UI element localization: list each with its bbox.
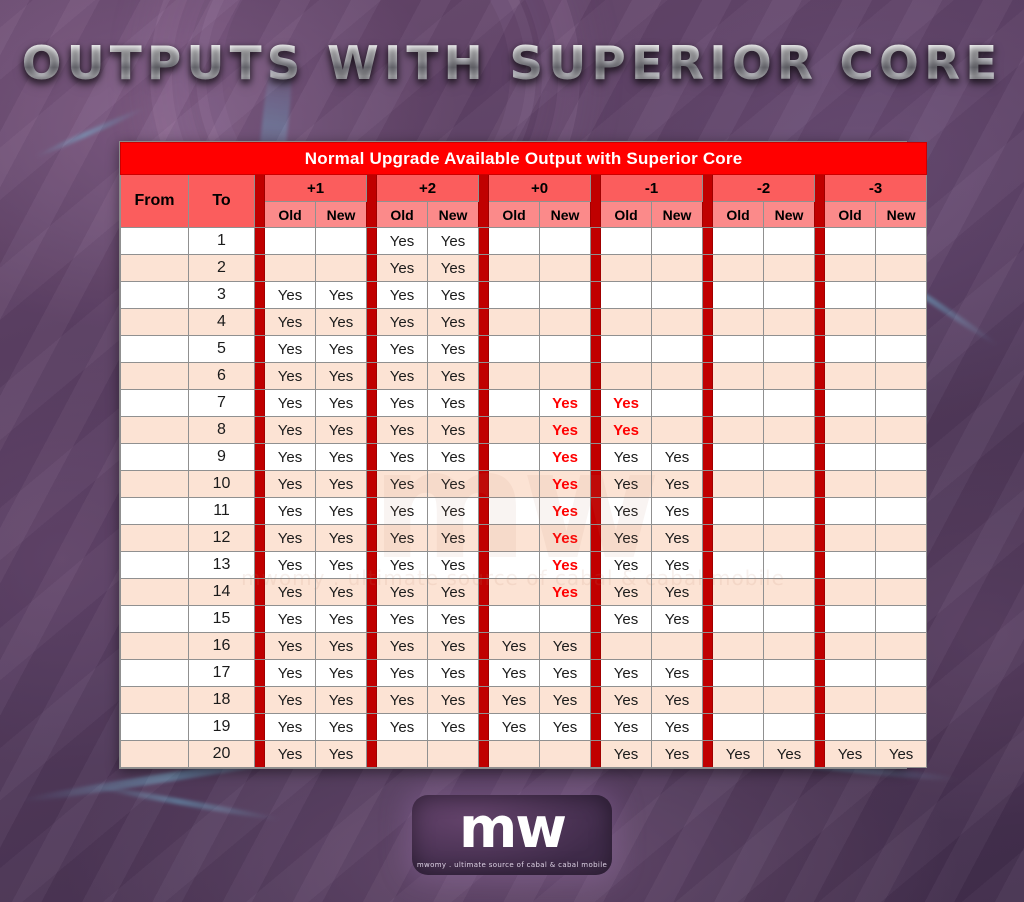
- group-separator: [703, 175, 713, 228]
- group-separator: [479, 363, 489, 390]
- cell-plus1-old: Yes: [265, 363, 316, 390]
- cell-minus3-new: [876, 363, 927, 390]
- cell-minus3-new: [876, 714, 927, 741]
- cell-plus2-new: [428, 741, 479, 768]
- cell-to: 17: [189, 660, 255, 687]
- group-separator: [479, 714, 489, 741]
- group-separator: [703, 660, 713, 687]
- table-row: 17YesYesYesYesYesYesYesYes: [121, 660, 927, 687]
- group-separator: [815, 660, 825, 687]
- cell-plus2-old: Yes: [377, 525, 428, 552]
- cell-from: [121, 633, 189, 660]
- group-separator: [255, 282, 265, 309]
- cell-plus2-old: Yes: [377, 282, 428, 309]
- cell-minus3-new: [876, 309, 927, 336]
- brand-logo-mark: mw: [459, 804, 565, 854]
- cell-minus1-new: [652, 390, 703, 417]
- cell-minus3-new: [876, 390, 927, 417]
- cell-from: [121, 471, 189, 498]
- cell-minus3-old: [825, 498, 876, 525]
- group-separator: [367, 498, 377, 525]
- group-separator: [367, 390, 377, 417]
- cell-plus2-old: Yes: [377, 363, 428, 390]
- table-caption-row: Normal Upgrade Available Output with Sup…: [121, 143, 927, 175]
- cell-plus0-old: [489, 552, 540, 579]
- cell-to: 9: [189, 444, 255, 471]
- cell-minus2-old: [713, 228, 764, 255]
- group-separator: [255, 390, 265, 417]
- cell-from: [121, 498, 189, 525]
- table-row: 12YesYesYesYesYesYesYes: [121, 525, 927, 552]
- group-separator: [815, 444, 825, 471]
- cell-plus2-old: Yes: [377, 390, 428, 417]
- cell-plus2-new: Yes: [428, 606, 479, 633]
- cell-plus2-old: Yes: [377, 255, 428, 282]
- group-separator: [591, 633, 601, 660]
- group-separator: [479, 525, 489, 552]
- group-separator: [815, 255, 825, 282]
- cell-to: 10: [189, 471, 255, 498]
- cell-plus1-old: Yes: [265, 687, 316, 714]
- cell-to: 18: [189, 687, 255, 714]
- cell-plus1-new: Yes: [316, 498, 367, 525]
- group-separator: [255, 660, 265, 687]
- group-separator: [367, 282, 377, 309]
- group-separator: [703, 498, 713, 525]
- group-separator: [479, 282, 489, 309]
- cell-minus1-new: [652, 363, 703, 390]
- cell-plus1-old: Yes: [265, 714, 316, 741]
- cell-plus0-new: Yes: [540, 525, 591, 552]
- cell-plus0-old: [489, 741, 540, 768]
- group-header-minus1: -1: [601, 175, 703, 202]
- cell-to: 5: [189, 336, 255, 363]
- subheader-new: New: [764, 202, 815, 228]
- cell-minus2-old: Yes: [713, 741, 764, 768]
- subheader-new: New: [876, 202, 927, 228]
- group-separator: [591, 282, 601, 309]
- cell-plus2-old: Yes: [377, 660, 428, 687]
- table-row: 6YesYesYesYes: [121, 363, 927, 390]
- header-to: To: [189, 175, 255, 228]
- cell-minus2-old: [713, 255, 764, 282]
- cell-plus0-new: Yes: [540, 417, 591, 444]
- page-title: OUTPUTS WITH SUPERIOR CORE: [0, 36, 1024, 90]
- cell-plus2-new: Yes: [428, 363, 479, 390]
- cell-to: 16: [189, 633, 255, 660]
- cell-minus1-old: Yes: [601, 606, 652, 633]
- cell-plus2-old: Yes: [377, 579, 428, 606]
- upgrade-output-table: Normal Upgrade Available Output with Sup…: [119, 141, 907, 769]
- group-separator: [367, 606, 377, 633]
- cell-to: 7: [189, 390, 255, 417]
- cell-minus1-new: Yes: [652, 552, 703, 579]
- cell-plus0-old: [489, 363, 540, 390]
- table-row: 3YesYesYesYes: [121, 282, 927, 309]
- cell-minus1-old: [601, 282, 652, 309]
- group-separator: [479, 390, 489, 417]
- cell-minus3-new: [876, 417, 927, 444]
- table-row: 9YesYesYesYesYesYesYes: [121, 444, 927, 471]
- group-separator: [703, 444, 713, 471]
- group-separator: [591, 498, 601, 525]
- cell-minus3-old: [825, 228, 876, 255]
- group-separator: [479, 633, 489, 660]
- cell-from: [121, 363, 189, 390]
- group-separator: [703, 228, 713, 255]
- group-separator: [367, 660, 377, 687]
- header-from: From: [121, 175, 189, 228]
- group-separator: [703, 282, 713, 309]
- group-separator: [591, 444, 601, 471]
- cell-plus0-old: [489, 417, 540, 444]
- group-separator: [255, 606, 265, 633]
- subheader-old: Old: [377, 202, 428, 228]
- cell-plus0-new: [540, 741, 591, 768]
- subheader-old: Old: [601, 202, 652, 228]
- group-separator: [703, 552, 713, 579]
- group-separator: [479, 255, 489, 282]
- cell-from: [121, 525, 189, 552]
- group-separator: [703, 714, 713, 741]
- cell-plus0-old: Yes: [489, 714, 540, 741]
- cell-plus1-old: [265, 255, 316, 282]
- group-separator: [255, 498, 265, 525]
- group-separator: [367, 175, 377, 228]
- cell-minus3-old: [825, 255, 876, 282]
- cell-minus2-new: [764, 417, 815, 444]
- cell-minus1-old: Yes: [601, 579, 652, 606]
- cell-plus0-new: Yes: [540, 390, 591, 417]
- cell-plus1-old: Yes: [265, 282, 316, 309]
- cell-minus3-new: [876, 660, 927, 687]
- cell-plus1-new: Yes: [316, 714, 367, 741]
- cell-plus0-new: Yes: [540, 687, 591, 714]
- cell-plus1-new: Yes: [316, 471, 367, 498]
- cell-from: [121, 579, 189, 606]
- cell-plus2-new: Yes: [428, 687, 479, 714]
- group-separator: [255, 471, 265, 498]
- group-separator: [815, 741, 825, 768]
- group-separator: [591, 175, 601, 228]
- cell-from: [121, 309, 189, 336]
- group-separator: [255, 714, 265, 741]
- cell-minus2-new: [764, 606, 815, 633]
- cell-minus1-new: Yes: [652, 660, 703, 687]
- cell-minus3-old: [825, 660, 876, 687]
- cell-from: [121, 714, 189, 741]
- cell-plus2-new: Yes: [428, 336, 479, 363]
- group-separator: [255, 309, 265, 336]
- cell-minus1-new: [652, 309, 703, 336]
- cell-plus2-new: Yes: [428, 633, 479, 660]
- cell-minus2-old: [713, 498, 764, 525]
- group-separator: [479, 444, 489, 471]
- cell-minus1-new: Yes: [652, 444, 703, 471]
- cell-minus3-old: [825, 552, 876, 579]
- cell-plus1-old: Yes: [265, 417, 316, 444]
- group-separator: [255, 579, 265, 606]
- group-separator: [591, 741, 601, 768]
- cell-plus1-new: Yes: [316, 579, 367, 606]
- group-separator: [479, 228, 489, 255]
- group-separator: [703, 579, 713, 606]
- cell-minus1-old: [601, 336, 652, 363]
- group-separator: [255, 228, 265, 255]
- group-separator: [255, 552, 265, 579]
- cell-plus0-new: Yes: [540, 660, 591, 687]
- group-separator: [815, 498, 825, 525]
- group-separator: [591, 687, 601, 714]
- cell-to: 2: [189, 255, 255, 282]
- group-separator: [815, 552, 825, 579]
- cell-minus1-old: [601, 255, 652, 282]
- cell-minus3-new: Yes: [876, 741, 927, 768]
- cell-plus0-new: [540, 309, 591, 336]
- cell-plus0-old: [489, 282, 540, 309]
- cell-from: [121, 417, 189, 444]
- cell-plus2-new: Yes: [428, 255, 479, 282]
- cell-minus3-old: [825, 471, 876, 498]
- group-separator: [703, 525, 713, 552]
- cell-plus2-old: Yes: [377, 444, 428, 471]
- subheader-old: Old: [265, 202, 316, 228]
- cell-minus2-old: [713, 471, 764, 498]
- cell-minus1-new: [652, 228, 703, 255]
- cell-minus1-new: Yes: [652, 471, 703, 498]
- cell-from: [121, 606, 189, 633]
- cell-plus0-new: [540, 606, 591, 633]
- group-separator: [703, 363, 713, 390]
- group-separator: [367, 444, 377, 471]
- cell-to: 19: [189, 714, 255, 741]
- cell-minus3-new: [876, 579, 927, 606]
- group-separator: [591, 417, 601, 444]
- group-separator: [479, 336, 489, 363]
- group-separator: [591, 660, 601, 687]
- group-separator: [703, 633, 713, 660]
- group-header-plus0: +0: [489, 175, 591, 202]
- cell-minus2-new: [764, 282, 815, 309]
- cell-minus2-old: [713, 390, 764, 417]
- cell-minus2-new: [764, 336, 815, 363]
- cell-minus1-old: Yes: [601, 390, 652, 417]
- cell-minus1-old: Yes: [601, 444, 652, 471]
- cell-minus2-old: [713, 417, 764, 444]
- cell-minus1-old: Yes: [601, 471, 652, 498]
- group-separator: [703, 687, 713, 714]
- table-row: 16YesYesYesYesYesYes: [121, 633, 927, 660]
- cell-plus1-old: Yes: [265, 660, 316, 687]
- cell-plus2-new: Yes: [428, 525, 479, 552]
- cell-plus0-new: Yes: [540, 498, 591, 525]
- group-separator: [703, 390, 713, 417]
- cell-minus3-old: [825, 336, 876, 363]
- cell-minus3-old: [825, 417, 876, 444]
- cell-plus0-old: [489, 444, 540, 471]
- cell-plus2-new: Yes: [428, 309, 479, 336]
- group-header-plus2: +2: [377, 175, 479, 202]
- cell-minus2-old: [713, 633, 764, 660]
- group-separator: [367, 363, 377, 390]
- table-row: 19YesYesYesYesYesYesYesYes: [121, 714, 927, 741]
- group-separator: [815, 579, 825, 606]
- subheader-new: New: [540, 202, 591, 228]
- cell-plus1-new: Yes: [316, 660, 367, 687]
- cell-minus2-new: [764, 390, 815, 417]
- group-separator: [815, 363, 825, 390]
- cell-to: 14: [189, 579, 255, 606]
- cell-plus2-old: Yes: [377, 309, 428, 336]
- cell-plus2-new: Yes: [428, 417, 479, 444]
- group-separator: [255, 444, 265, 471]
- cell-minus2-new: Yes: [764, 741, 815, 768]
- cell-plus0-old: [489, 498, 540, 525]
- group-separator: [367, 714, 377, 741]
- group-separator: [815, 525, 825, 552]
- cell-minus2-new: [764, 714, 815, 741]
- cell-minus3-new: [876, 228, 927, 255]
- cell-minus3-new: [876, 336, 927, 363]
- group-separator: [479, 471, 489, 498]
- group-separator: [367, 471, 377, 498]
- cell-from: [121, 390, 189, 417]
- cell-plus0-old: [489, 336, 540, 363]
- table-row: 14YesYesYesYesYesYesYes: [121, 579, 927, 606]
- group-separator: [367, 417, 377, 444]
- cell-plus0-old: [489, 471, 540, 498]
- table-row: 5YesYesYesYes: [121, 336, 927, 363]
- cell-to: 4: [189, 309, 255, 336]
- group-separator: [815, 714, 825, 741]
- cell-minus3-new: [876, 471, 927, 498]
- cell-plus2-new: Yes: [428, 228, 479, 255]
- cell-plus1-old: Yes: [265, 741, 316, 768]
- table-row: 7YesYesYesYesYesYes: [121, 390, 927, 417]
- group-separator: [815, 471, 825, 498]
- subheader-new: New: [428, 202, 479, 228]
- group-separator: [479, 687, 489, 714]
- cell-minus1-old: Yes: [601, 417, 652, 444]
- cell-minus3-new: [876, 282, 927, 309]
- group-separator: [255, 687, 265, 714]
- cell-plus1-new: Yes: [316, 363, 367, 390]
- cell-minus1-new: [652, 633, 703, 660]
- table-row: 2YesYes: [121, 255, 927, 282]
- group-separator: [367, 336, 377, 363]
- group-separator: [703, 336, 713, 363]
- cell-minus2-old: [713, 525, 764, 552]
- group-separator: [703, 606, 713, 633]
- cell-minus1-new: [652, 417, 703, 444]
- cell-minus1-old: Yes: [601, 714, 652, 741]
- cell-minus3-new: [876, 606, 927, 633]
- group-separator: [255, 175, 265, 228]
- cell-minus2-old: [713, 579, 764, 606]
- cell-plus1-new: Yes: [316, 741, 367, 768]
- cell-minus1-old: Yes: [601, 741, 652, 768]
- group-separator: [703, 417, 713, 444]
- cell-plus2-old: Yes: [377, 552, 428, 579]
- cell-minus2-old: [713, 309, 764, 336]
- cell-plus0-old: [489, 309, 540, 336]
- group-separator: [815, 606, 825, 633]
- cell-minus2-old: [713, 336, 764, 363]
- subheader-new: New: [316, 202, 367, 228]
- cell-plus0-new: Yes: [540, 471, 591, 498]
- group-separator: [367, 741, 377, 768]
- cell-minus1-old: [601, 309, 652, 336]
- cell-plus1-old: Yes: [265, 552, 316, 579]
- cell-minus2-new: [764, 525, 815, 552]
- group-separator: [367, 579, 377, 606]
- group-separator: [815, 282, 825, 309]
- upgrade-grid: Normal Upgrade Available Output with Sup…: [120, 142, 927, 768]
- group-separator: [703, 309, 713, 336]
- group-separator: [479, 741, 489, 768]
- cell-plus0-old: [489, 390, 540, 417]
- cell-plus0-new: Yes: [540, 633, 591, 660]
- cell-minus2-old: [713, 363, 764, 390]
- group-separator: [367, 687, 377, 714]
- cell-minus3-old: [825, 525, 876, 552]
- cell-minus2-new: [764, 471, 815, 498]
- cell-minus2-old: [713, 714, 764, 741]
- table-row: 11YesYesYesYesYesYesYes: [121, 498, 927, 525]
- cell-minus2-old: [713, 282, 764, 309]
- cell-minus1-new: Yes: [652, 525, 703, 552]
- cell-plus2-new: Yes: [428, 282, 479, 309]
- group-header-plus1: +1: [265, 175, 367, 202]
- cell-minus3-old: [825, 309, 876, 336]
- cell-minus3-new: [876, 552, 927, 579]
- cell-minus2-new: [764, 552, 815, 579]
- cell-minus1-old: Yes: [601, 552, 652, 579]
- cell-minus1-old: [601, 363, 652, 390]
- cell-plus2-new: Yes: [428, 471, 479, 498]
- group-separator: [255, 336, 265, 363]
- cell-plus2-new: Yes: [428, 552, 479, 579]
- cell-plus1-new: Yes: [316, 309, 367, 336]
- group-separator: [815, 175, 825, 228]
- group-separator: [815, 390, 825, 417]
- cell-plus0-new: Yes: [540, 579, 591, 606]
- cell-to: 11: [189, 498, 255, 525]
- group-separator: [479, 498, 489, 525]
- cell-minus3-old: [825, 606, 876, 633]
- cell-from: [121, 336, 189, 363]
- cell-plus1-new: Yes: [316, 633, 367, 660]
- cell-from: [121, 255, 189, 282]
- cell-plus0-old: [489, 525, 540, 552]
- group-separator: [479, 606, 489, 633]
- table-row: 1YesYes: [121, 228, 927, 255]
- group-separator: [479, 309, 489, 336]
- cell-minus3-new: [876, 687, 927, 714]
- cell-plus1-old: Yes: [265, 579, 316, 606]
- group-separator: [815, 633, 825, 660]
- cell-plus2-new: Yes: [428, 444, 479, 471]
- group-header-minus2: -2: [713, 175, 815, 202]
- cell-minus1-new: Yes: [652, 579, 703, 606]
- group-separator: [255, 417, 265, 444]
- cell-minus3-new: [876, 498, 927, 525]
- cell-plus1-new: Yes: [316, 390, 367, 417]
- cell-minus3-old: [825, 390, 876, 417]
- energy-wisp-decoration: [93, 784, 281, 823]
- cell-to: 15: [189, 606, 255, 633]
- cell-minus3-old: [825, 579, 876, 606]
